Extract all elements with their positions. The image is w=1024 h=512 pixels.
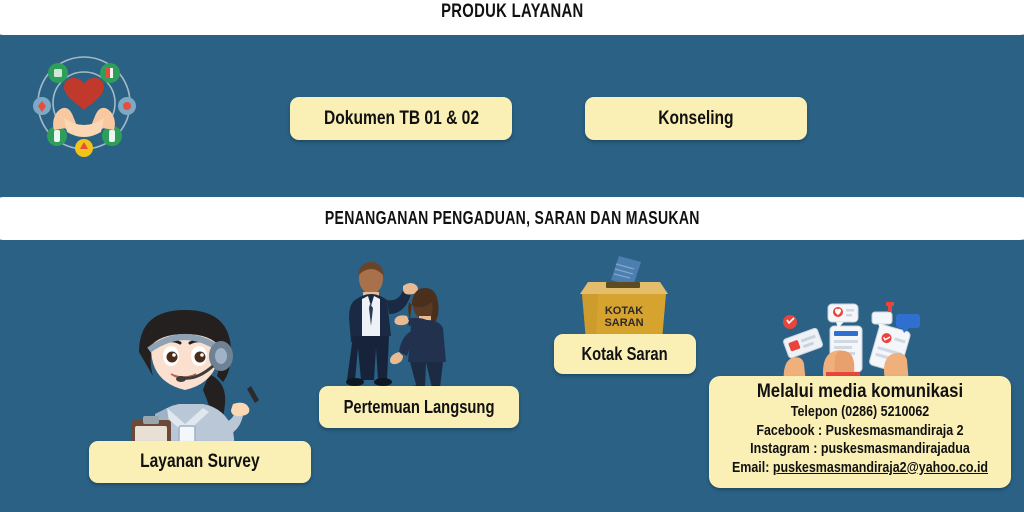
contact-heading: Melalui media komunikasi <box>727 381 993 403</box>
channel-layanan-survey[interactable]: Layanan Survey <box>89 441 311 483</box>
service-dokumen-tb[interactable]: Dokumen TB 01 & 02 <box>290 97 512 140</box>
contact-facebook: Facebook : Puskesmasmandiraja 2 <box>730 422 990 441</box>
suggestion-box-icon: KOTAK SARAN <box>572 252 677 347</box>
contact-email: Email: puskesmasmandiraja2@yahoo.co.id <box>730 459 990 478</box>
hands-holding-heart-icon <box>24 48 144 158</box>
channel-kotak-saran[interactable]: Kotak Saran <box>554 334 696 374</box>
channel-pertemuan-langsung[interactable]: Pertemuan Langsung <box>319 386 519 428</box>
contact-card[interactable]: Melalui media komunikasi Telepon (0286) … <box>709 376 1011 488</box>
service-dokumen-label: Dokumen TB 01 & 02 <box>324 108 479 130</box>
channel-survey-label: Layanan Survey <box>140 451 260 473</box>
hands-with-phones-icon <box>768 300 928 385</box>
contact-email-label: Email: <box>732 460 769 476</box>
two-people-meeting-icon <box>335 252 460 392</box>
kotak-art-line1: KOTAK <box>605 305 643 317</box>
service-konseling[interactable]: Konseling <box>585 97 807 140</box>
contact-email-value[interactable]: puskesmasmandiraja2@yahoo.co.id <box>773 460 988 476</box>
banner-penanganan-pengaduan: PENANGANAN PENGADUAN, SARAN DAN MASUKAN <box>0 197 1024 240</box>
banner-produk-layanan: PRODUK LAYANAN <box>0 0 1024 35</box>
page-title: PRODUK LAYANAN <box>441 1 583 23</box>
channel-pertemuan-label: Pertemuan Langsung <box>344 397 495 418</box>
channel-kotak-label: Kotak Saran <box>582 344 668 365</box>
contact-telepon: Telepon (0286) 5210062 <box>730 403 990 422</box>
service-konseling-label: Konseling <box>658 108 733 130</box>
contact-instagram: Instagram : puskesmasmandirajadua <box>730 440 990 459</box>
kotak-art-line2: SARAN <box>604 317 643 329</box>
section-title: PENANGANAN PENGADUAN, SARAN DAN MASUKAN <box>325 208 700 229</box>
